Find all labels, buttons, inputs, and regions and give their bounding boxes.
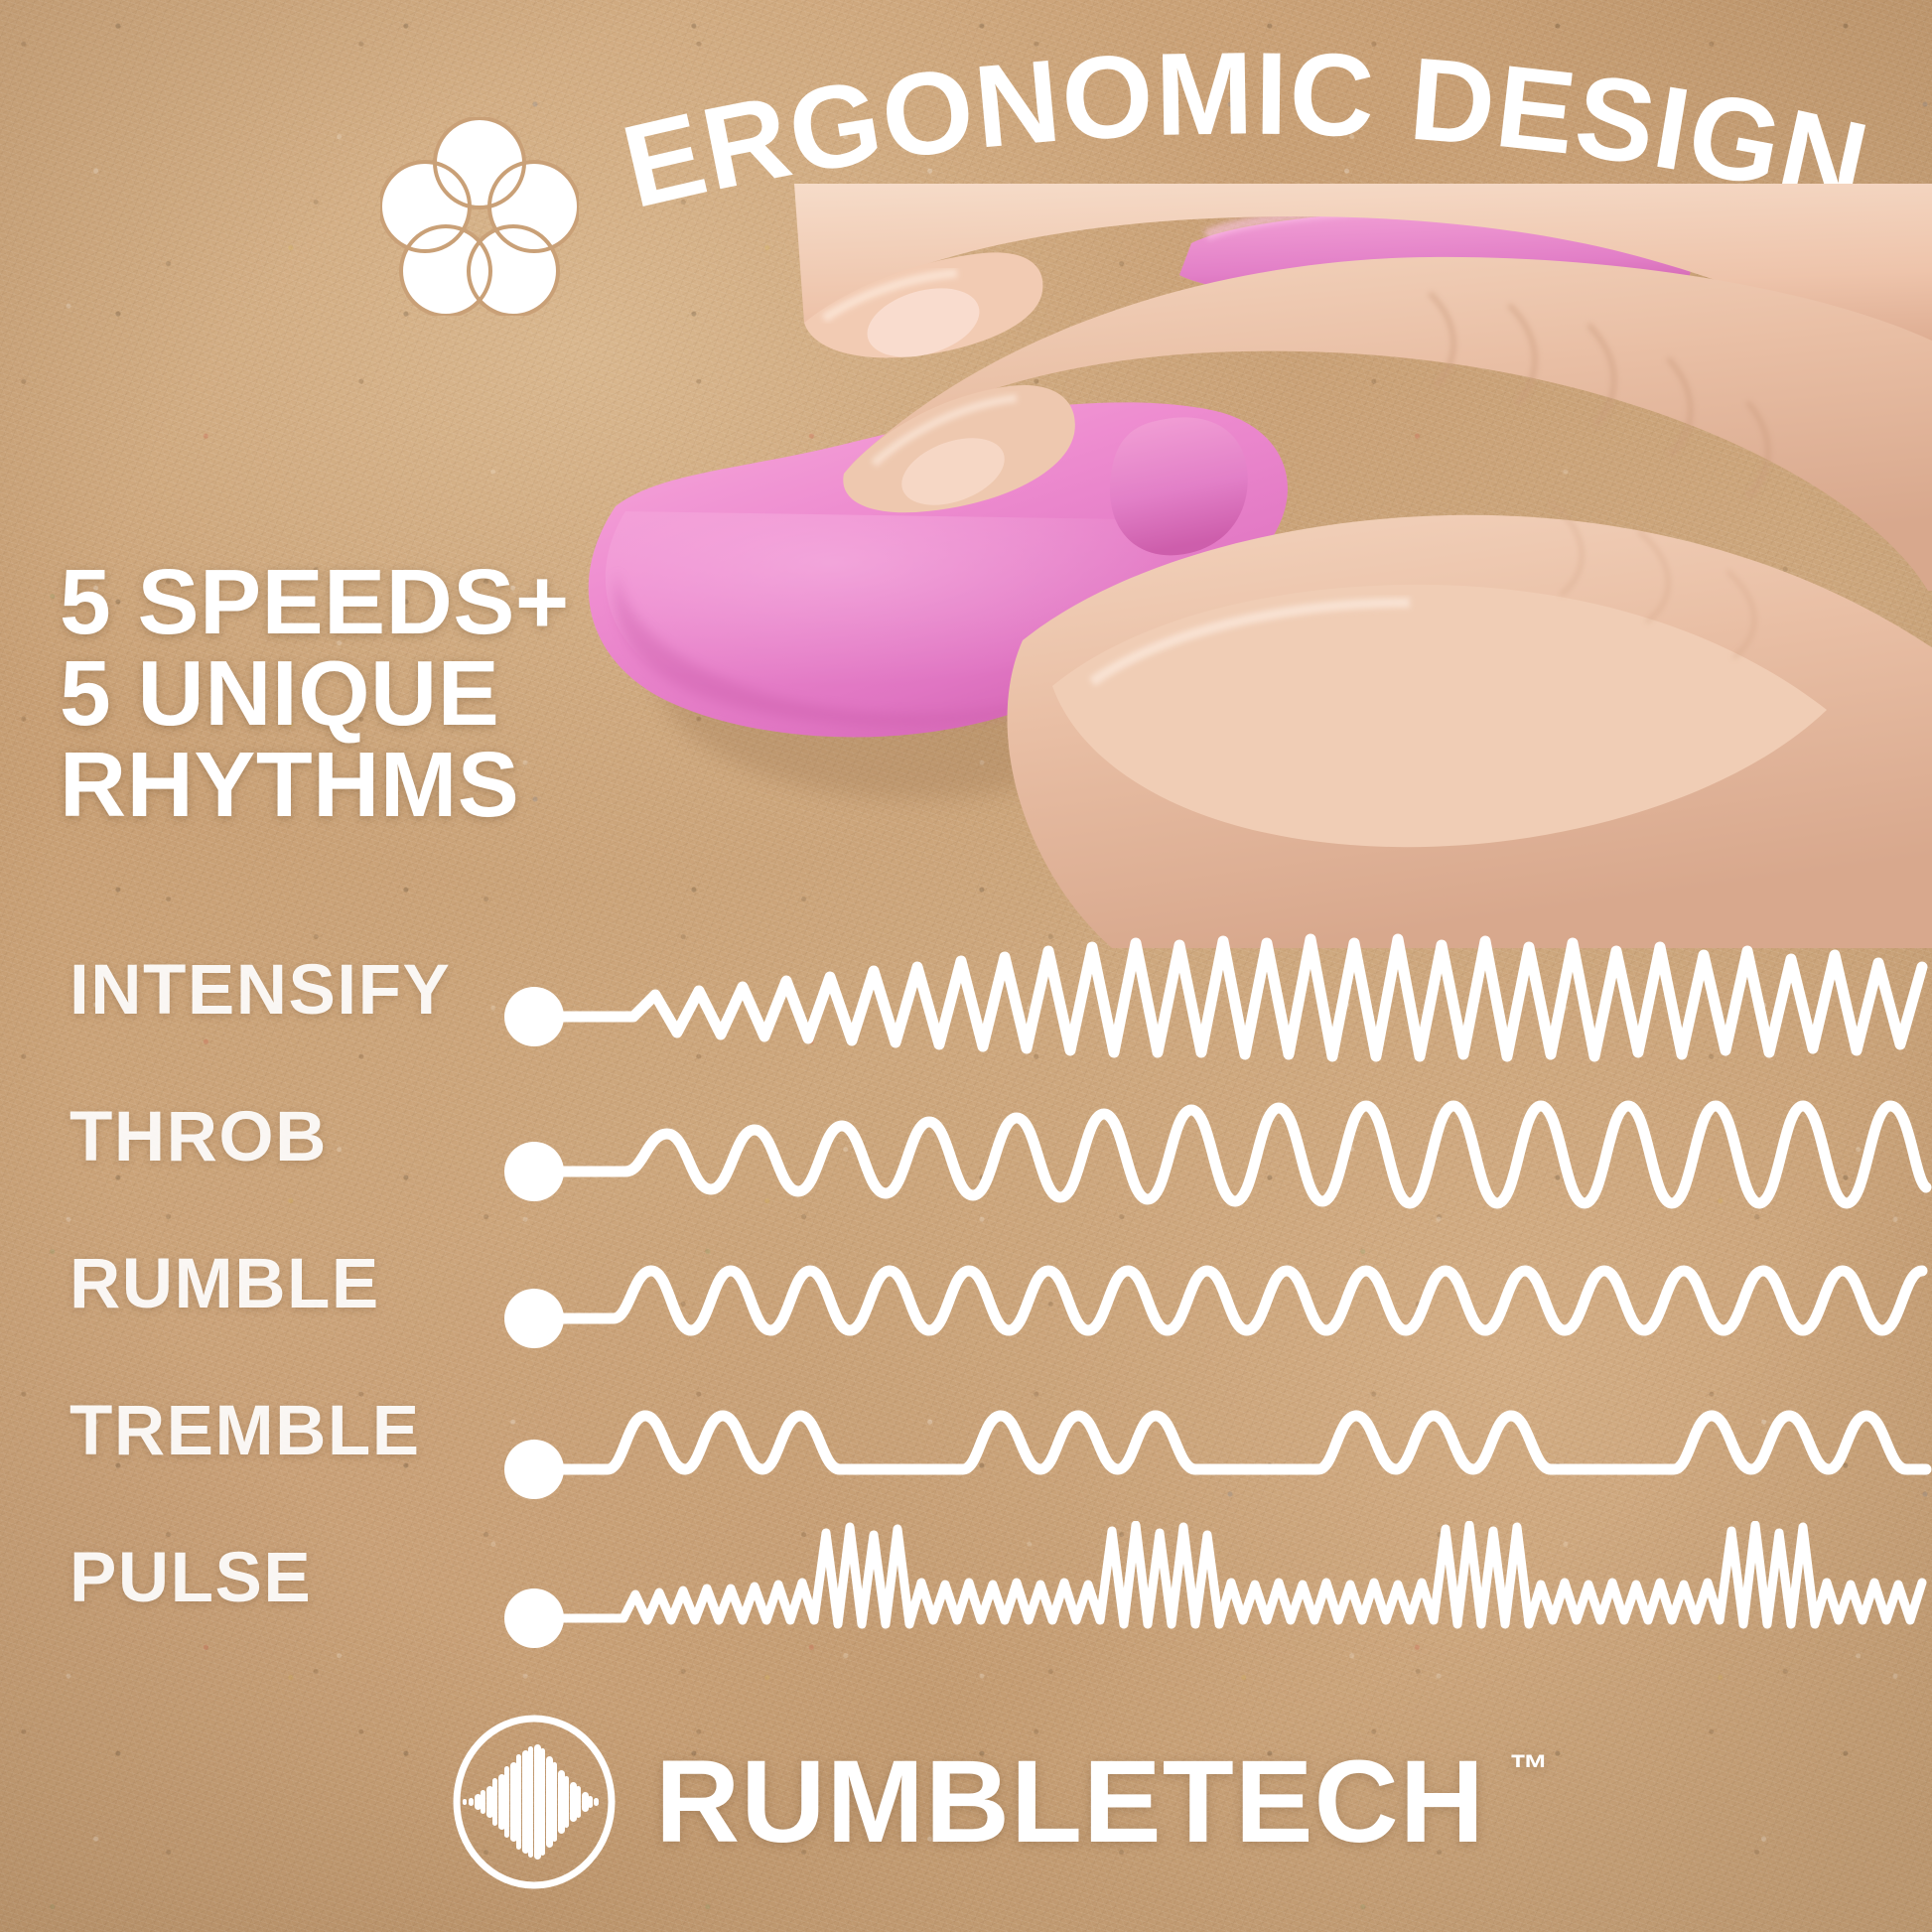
- waveform-rumble: [496, 1227, 1932, 1374]
- rhythm-label-intensify: INTENSIFY: [69, 955, 496, 1026]
- trademark-symbol: ™: [1509, 1749, 1549, 1789]
- rhythm-label-throb: THROB: [69, 1102, 496, 1173]
- rhythm-row-tremble[interactable]: TREMBLE: [0, 1374, 1932, 1521]
- rhythm-row-rumble[interactable]: RUMBLE: [0, 1227, 1932, 1374]
- waveform-tremble: [496, 1374, 1932, 1521]
- audio-waveform-circle-icon: [447, 1715, 621, 1889]
- feature-headline-line-1: 5 SPEEDS+: [60, 556, 695, 647]
- feature-headline: 5 SPEEDS+ 5 UNIQUE RHYTHMS: [60, 556, 695, 830]
- rhythm-row-intensify[interactable]: INTENSIFY: [0, 933, 1932, 1080]
- product-feature-card: ERGONOMIC DESIGN: [0, 0, 1932, 1932]
- waveform-pulse: [496, 1521, 1932, 1668]
- rhythm-row-pulse[interactable]: PULSE: [0, 1521, 1932, 1668]
- brand-wordmark-text: RUMBLETECH: [655, 1736, 1485, 1867]
- feature-headline-line-3: RHYTHMS: [60, 739, 695, 830]
- rhythm-label-rumble: RUMBLE: [69, 1249, 496, 1319]
- rhythm-label-tremble: TREMBLE: [69, 1396, 496, 1466]
- hand-holding-product-photo: [556, 174, 1932, 948]
- rhythm-row-throb[interactable]: THROB: [0, 1080, 1932, 1227]
- waveform-intensify: [496, 933, 1932, 1080]
- brand-lockup: RUMBLETECH ™: [0, 1688, 1932, 1916]
- feature-headline-line-2: 5 UNIQUE: [60, 647, 695, 739]
- rhythm-waveform-legend: INTENSIFY THROB RUMBLE TREMBLE: [0, 933, 1932, 1668]
- waveform-throb: [496, 1080, 1932, 1227]
- rhythm-label-pulse: PULSE: [69, 1543, 496, 1613]
- brand-wordmark: RUMBLETECH ™: [655, 1743, 1485, 1861]
